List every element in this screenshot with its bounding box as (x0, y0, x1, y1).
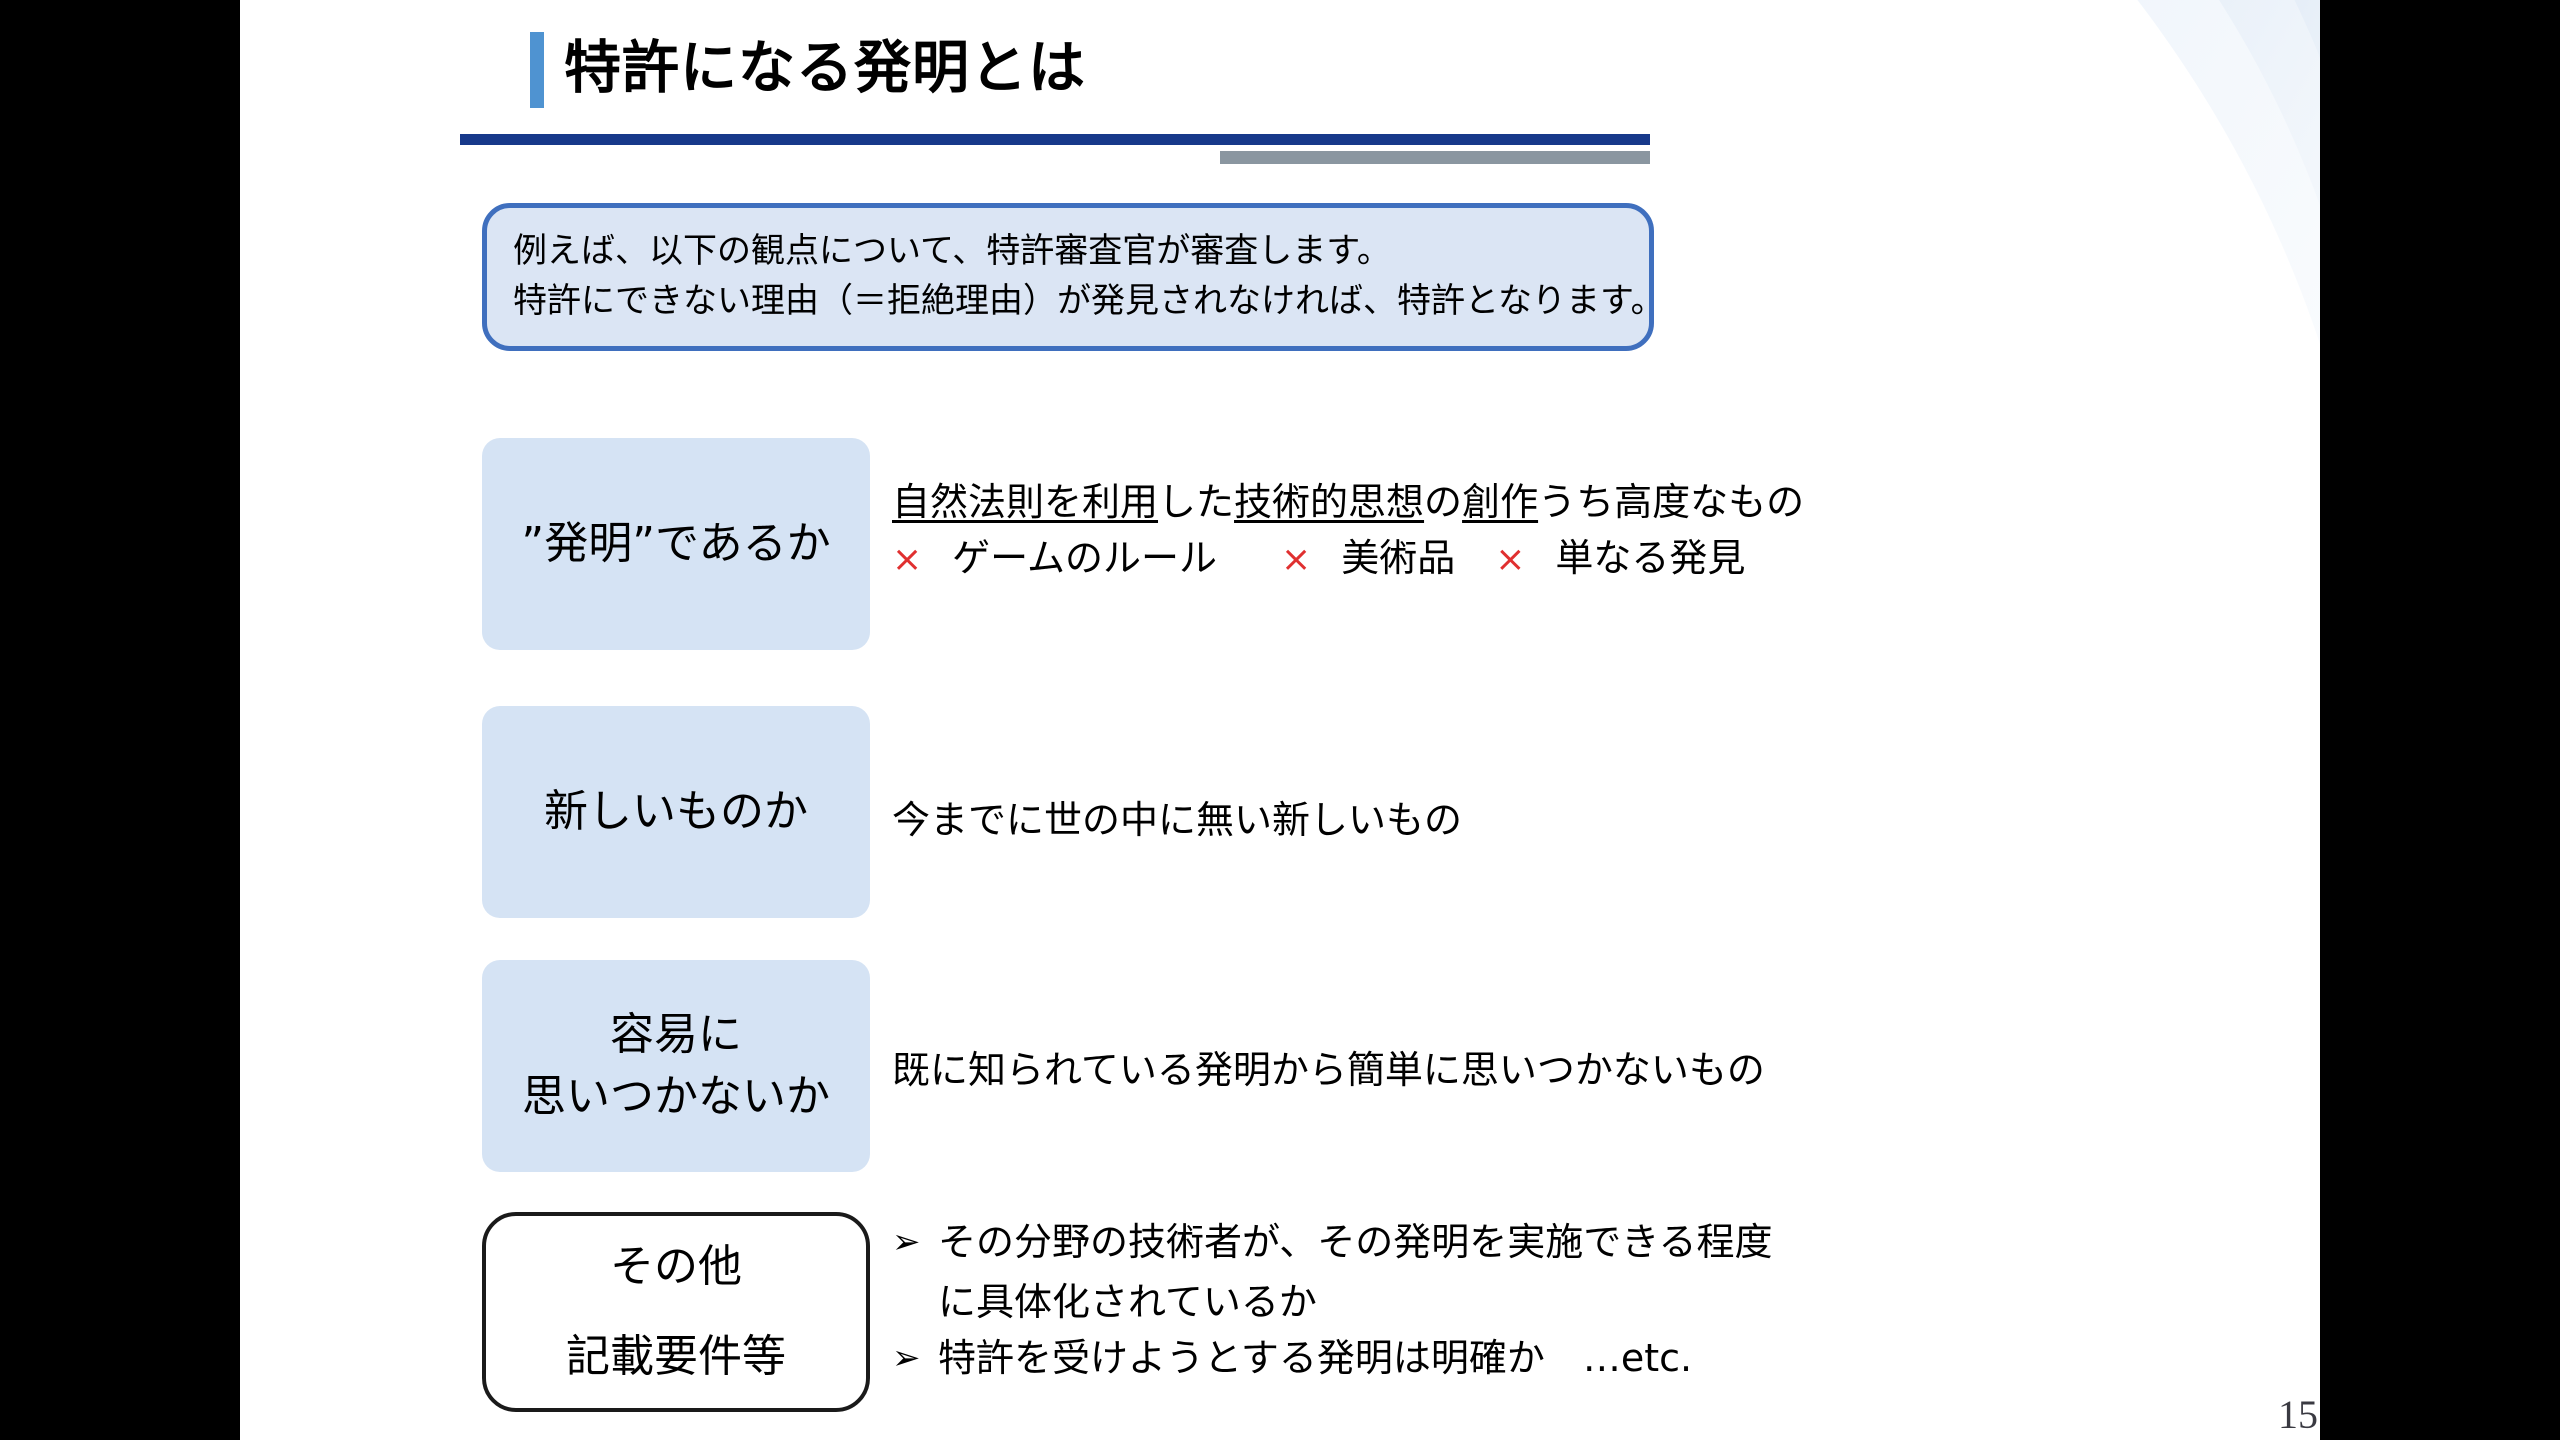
criteria-body-invention: 自然法則を利用した技術的思想の創作うち高度なもの ×ゲームのルール×美術品×単な… (892, 474, 1652, 588)
arrow-bullet-icon: ➢ (892, 1330, 938, 1386)
criteria-description: 既に知られている発明から簡単に思いつかないもの (892, 1042, 1652, 1098)
criteria-definition-line: 自然法則を利用した技術的思想の創作うち高度なもの (892, 474, 1652, 530)
criteria-label-line: 容易に (610, 1004, 742, 1066)
criteria-label-inventive-step: 容易に 思いつかないか (482, 960, 870, 1172)
criteria-label-invention: ”発明”であるか (482, 438, 870, 650)
bullet-item: ➢ その分野の技術者が、その発明を実施できる程度 (892, 1214, 1652, 1270)
definition-underline-1: 自然法則を利用 (892, 480, 1158, 524)
criteria-label-other: その他 記載要件等 (482, 1212, 870, 1412)
criteria-label-line: その他 (610, 1236, 742, 1298)
intro-line-1: 例えば、以下の観点について、特許審査官が審査します。 (513, 226, 1623, 276)
criteria-label-line: 記載要件等 (566, 1326, 786, 1388)
x-mark-icon-1: × (892, 539, 922, 580)
criteria-body-other: ➢ その分野の技術者が、その発明を実施できる程度 に具体化されているか ➢ 特許… (892, 1214, 1652, 1390)
definition-plain-3: うち高度なもの (1538, 480, 1804, 524)
negative-example-2: 美術品 (1341, 536, 1455, 580)
criteria-label-line: ”発明”であるか (521, 513, 830, 575)
slide-canvas: 特許になる発明とは 例えば、以下の観点について、特許審査官が審査します。 特許に… (240, 0, 2320, 1440)
bullet-item: ➢ 特許を受けようとする発明は明確か …etc. (892, 1330, 1652, 1386)
bullet-text: その分野の技術者が、その発明を実施できる程度 (938, 1214, 1772, 1270)
definition-plain-1: した (1158, 480, 1234, 524)
title-rule-navy (460, 134, 1650, 145)
title-block: 特許になる発明とは (530, 26, 2320, 146)
bullet-text: 特許を受けようとする発明は明確か …etc. (938, 1330, 1692, 1386)
definition-underline-3: 創作 (1462, 480, 1538, 524)
definition-underline-2: 技術的思想 (1234, 480, 1424, 524)
arrow-bullet-icon: ➢ (892, 1214, 938, 1270)
slide-stage: 特許になる発明とは 例えば、以下の観点について、特許審査官が審査します。 特許に… (0, 0, 2560, 1440)
letterbox-right (2320, 0, 2560, 1440)
intro-line-2: 特許にできない理由（＝拒絶理由）が発見されなければ、特許となります。 (513, 276, 1623, 326)
negative-example-3: 単なる発見 (1555, 536, 1745, 580)
negative-example-1: ゲームのルール (952, 536, 1217, 580)
page-title: 特許になる発明とは (564, 26, 1086, 110)
x-mark-icon-2: × (1281, 539, 1311, 580)
criteria-body-novelty: 今までに世の中に無い新しいもの (892, 792, 1652, 848)
criteria-negative-examples: ×ゲームのルール×美術品×単なる発見 (892, 530, 1652, 588)
criteria-label-line: 思いつかないか (522, 1066, 830, 1128)
intro-callout-box: 例えば、以下の観点について、特許審査官が審査します。 特許にできない理由（＝拒絶… (482, 203, 1654, 351)
definition-plain-2: の (1424, 480, 1462, 524)
criteria-label-line: 新しいものか (544, 781, 808, 843)
x-mark-icon-3: × (1495, 539, 1525, 580)
title-rule-gray (1220, 151, 1650, 164)
criteria-label-novelty: 新しいものか (482, 706, 870, 918)
letterbox-left (0, 0, 240, 1440)
criteria-description: 今までに世の中に無い新しいもの (892, 792, 1652, 848)
title-accent-bar (530, 32, 544, 108)
page-number: 15 (2278, 1391, 2318, 1438)
bullet-continuation: に具体化されているか (892, 1274, 1652, 1330)
criteria-body-inventive-step: 既に知られている発明から簡単に思いつかないもの (892, 1042, 1652, 1098)
